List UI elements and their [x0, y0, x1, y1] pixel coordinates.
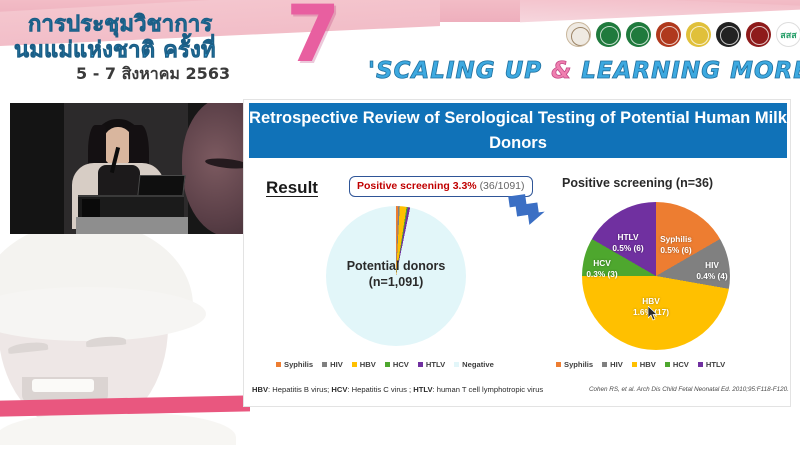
- watermark-hat-brim: [0, 287, 206, 341]
- legend-label-negative: Negative: [462, 360, 494, 369]
- slice-label-hiv: HIV 0.4% (4): [688, 260, 736, 281]
- slice-label-hcv: HCV 0.3% (3): [578, 258, 626, 279]
- footnote-abbr-hbv: HBV: [252, 385, 268, 394]
- slice-label-htlv: HTLV 0.5% (6): [602, 232, 654, 253]
- potential-donors-subtitle: (n=1,091): [310, 274, 482, 290]
- legend-swatch-hbv: [352, 362, 357, 367]
- legend-item-syphilis-right: Syphilis: [556, 360, 593, 369]
- legend-item-hiv: HIV: [322, 360, 343, 369]
- thai-breastfeeding-centre-logo: [596, 22, 621, 47]
- watermark-shoulder: [0, 413, 236, 445]
- legend-label-htlv-right: HTLV: [706, 360, 725, 369]
- slice-value-htlv: 0.5% (6): [602, 243, 654, 254]
- slice-label-syphilis: Syphilis 0.5% (6): [648, 234, 704, 255]
- slice-name-htlv: HTLV: [602, 232, 654, 243]
- positive-screening-callout: Positive screening 3.3% (36/1091): [349, 176, 533, 197]
- legend-item-negative: Negative: [454, 360, 494, 369]
- legend-item-htlv-right: HTLV: [698, 360, 725, 369]
- legend-label-hbv: HBV: [360, 360, 376, 369]
- legend-item-syphilis: Syphilis: [276, 360, 313, 369]
- legend-positive-screening: Syphilis HIV HBV HCV HTLV: [556, 360, 725, 369]
- video-wall-left: [10, 103, 64, 234]
- conference-date: 5 - 7 สิงหาคม 2563: [76, 62, 230, 87]
- legend-item-hbv-right: HBV: [632, 360, 656, 369]
- royal-college-logo: [656, 22, 681, 47]
- podium-base: [76, 217, 188, 234]
- slice-value-syphilis: 0.5% (6): [648, 245, 704, 256]
- legend-item-hcv: HCV: [385, 360, 409, 369]
- potential-donors-pie-label: Potential donors (n=1,091): [310, 258, 482, 290]
- slice-value-hiv: 0.4% (4): [688, 271, 736, 282]
- legend-label-htlv: HTLV: [426, 360, 445, 369]
- footnote-text-hcv: : Hepatitis C virus ;: [347, 385, 413, 394]
- presentation-slide: Retrospective Review of Serological Test…: [243, 99, 791, 407]
- legend-swatch-syphilis-right: [556, 362, 561, 367]
- footnote-abbr-hcv: HCV: [331, 385, 347, 394]
- slide-footnote: HBV: Hepatitis B virus; HCV: Hepatitis C…: [252, 385, 543, 394]
- conference-banner: การประชุมวิชาการ นมแม่แห่งชาติ ครั้งที่ …: [0, 0, 800, 95]
- legend-label-hiv-right: HIV: [610, 360, 623, 369]
- presentation-screenshot: การประชุมวิชาการ นมแม่แห่งชาติ ครั้งที่ …: [0, 0, 800, 450]
- slide-citation: Cohen RS, et al. Arch Dis Child Fetal Ne…: [589, 386, 789, 393]
- callout-highlight: Positive screening 3.3%: [357, 180, 477, 192]
- positive-screening-pie-title: Positive screening (n=36): [562, 176, 713, 190]
- legend-item-htlv: HTLV: [418, 360, 445, 369]
- slice-name-hbv: HBV: [622, 296, 680, 307]
- slice-name-hiv: HIV: [688, 260, 736, 271]
- potential-donors-title: Potential donors: [310, 258, 482, 274]
- legend-item-hcv-right: HCV: [665, 360, 689, 369]
- legend-label-hcv: HCV: [393, 360, 409, 369]
- legend-item-hbv: HBV: [352, 360, 376, 369]
- tagline-part2: LEARNING MORE': [572, 58, 800, 84]
- thai-pediatric-society-logo: [686, 22, 711, 47]
- legend-label-syphilis: Syphilis: [284, 360, 313, 369]
- legend-swatch-hcv: [385, 362, 390, 367]
- legend-potential-donors: Syphilis HIV HBV HCV HTLV Negative: [276, 360, 494, 369]
- thai-health-sss-logo: สสส: [776, 22, 800, 47]
- legend-item-hiv-right: HIV: [602, 360, 623, 369]
- ministry-of-public-health-logo: [626, 22, 651, 47]
- conference-edition-number: 7: [286, 0, 340, 74]
- royal-emblem-logo: [566, 22, 591, 47]
- legend-swatch-hbv-right: [632, 362, 637, 367]
- footnote-text-hbv: : Hepatitis B virus;: [268, 385, 331, 394]
- mouse-cursor-icon: [648, 306, 659, 321]
- legend-label-hcv-right: HCV: [673, 360, 689, 369]
- slide-title: Retrospective Review of Serological Test…: [249, 103, 787, 158]
- legend-swatch-hiv: [322, 362, 327, 367]
- watermark-teeth: [32, 379, 94, 392]
- legend-label-hbv-right: HBV: [640, 360, 656, 369]
- legend-swatch-hcv-right: [665, 362, 670, 367]
- slice-name-hcv: HCV: [578, 258, 626, 269]
- slice-value-hcv: 0.3% (3): [578, 269, 626, 280]
- legend-label-syphilis-right: Syphilis: [564, 360, 593, 369]
- footnote-abbr-htlv: HTLV: [413, 385, 432, 394]
- result-label: Result: [266, 178, 318, 198]
- legend-swatch-syphilis: [276, 362, 281, 367]
- legend-swatch-htlv-right: [698, 362, 703, 367]
- conference-tagline: 'SCALING UP & LEARNING MORE': [368, 58, 800, 84]
- tagline-part1: 'SCALING UP: [368, 58, 551, 84]
- thai-medical-council-logo: [746, 22, 771, 47]
- blue-arrow-icon: [507, 188, 547, 228]
- slice-name-syphilis: Syphilis: [648, 234, 704, 245]
- legend-label-hiv: HIV: [330, 360, 343, 369]
- footnote-text-htlv: : human T cell lymphotropic virus: [433, 385, 544, 394]
- organization-logo-strip: สสส: [566, 22, 800, 47]
- speaker-video-feed[interactable]: [10, 103, 244, 234]
- legend-swatch-htlv: [418, 362, 423, 367]
- legend-swatch-negative: [454, 362, 459, 367]
- legend-swatch-hiv-right: [602, 362, 607, 367]
- nursing-council-logo: [716, 22, 741, 47]
- sss-logo-label: สสส: [780, 28, 796, 42]
- tagline-ampersand: &: [551, 58, 572, 84]
- podium-plate: [82, 199, 100, 217]
